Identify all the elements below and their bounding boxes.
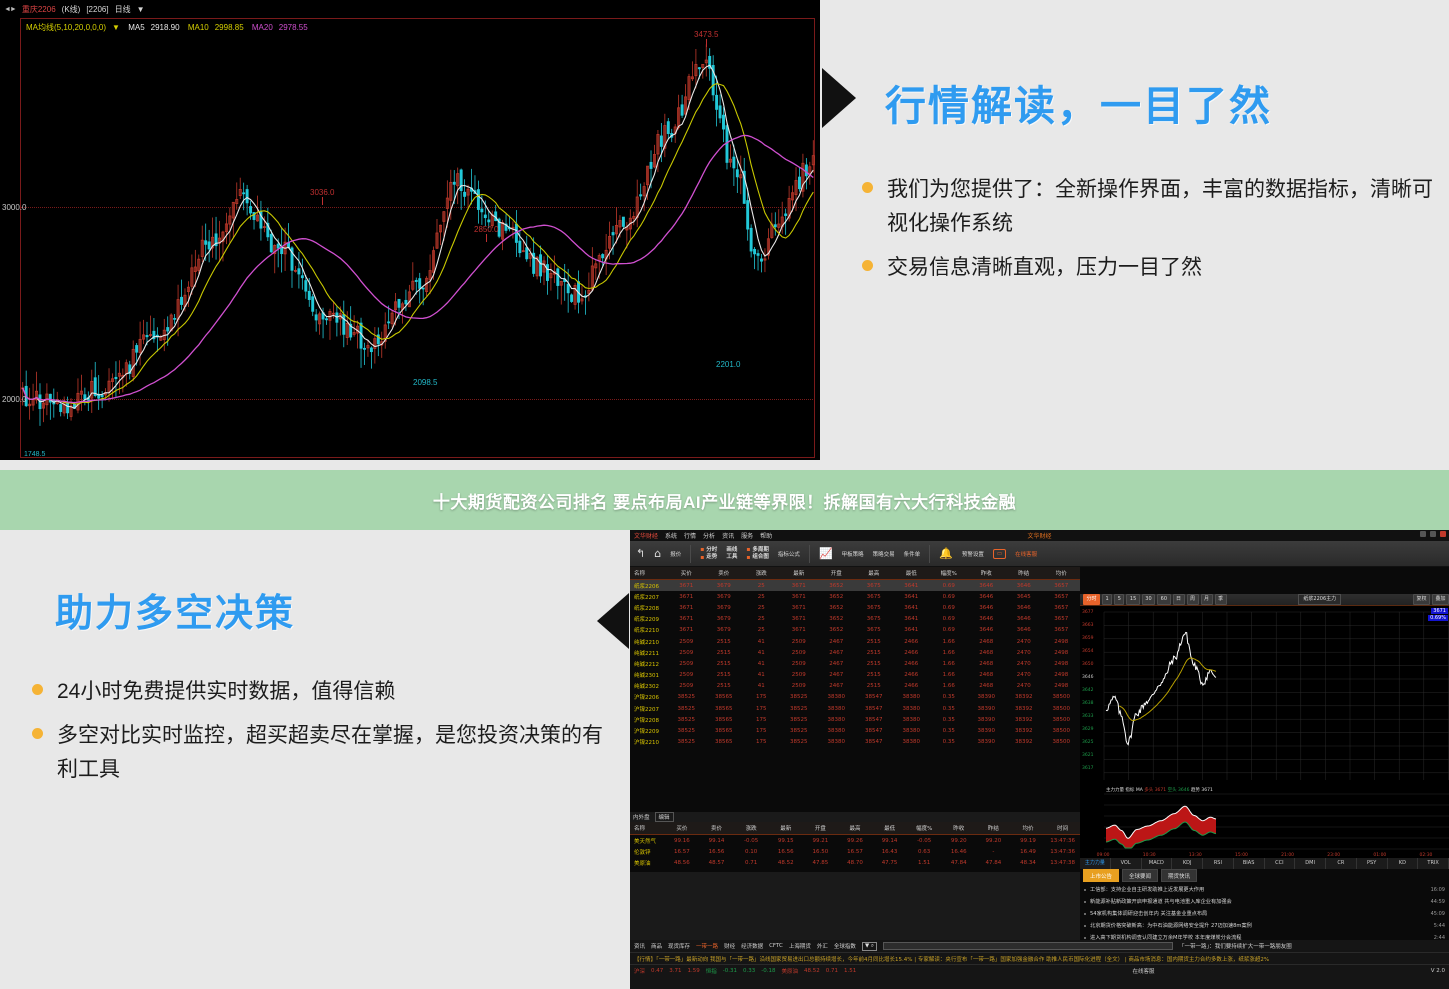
tf-button-30[interactable]: 30 [1142,594,1155,605]
table-cell: 3675 [855,625,893,636]
ma5-value: 2918.90 [151,23,180,32]
news-tab-futures[interactable]: 期货快讯 [1161,869,1197,882]
instrument-name: 纯碱2211 [630,647,668,658]
indicator-tab[interactable]: CCI [1265,858,1296,869]
maximize-icon[interactable] [1430,531,1436,537]
drawing-tools-button[interactable]: 画线工具 [726,547,737,561]
column-header[interactable]: 名称 [630,567,668,580]
menu-item-quotes[interactable]: 行情 [684,531,696,540]
bullet-dot-icon [862,260,873,271]
indicator-value-trend: 趋势 3671 [1191,788,1213,793]
quote2-table-container[interactable]: 名称买价卖价涨跌最新开盘最高最低幅度%昨收昨结均价时间 美天然气99.1699.… [630,822,1080,872]
table-cell: 2470 [1005,658,1043,669]
table-cell: 3679 [705,602,743,613]
table-cell: 3657 [1043,602,1081,613]
toolbar-divider [929,545,930,563]
kline-period-label[interactable]: 日线 [115,4,131,15]
table-cell: 2509 [780,658,818,669]
news-item[interactable]: 北京期货价格突破新高：为中石油能源网络安全提升 27迈加速8m案例5:44 [1084,920,1445,932]
table-cell: 3645 [1005,591,1043,602]
table-row[interactable]: 纸浆2209367136792536713652367536410.693646… [630,614,1080,625]
table-cell: 3671 [668,580,706,592]
table-cell: 99.20 [941,835,976,847]
indicator-tab[interactable]: BIAS [1234,858,1265,869]
column-header[interactable]: 最新 [780,567,818,580]
table-cell: 175 [743,703,781,714]
edit-button[interactable]: 编辑 [655,812,674,822]
strategy-trade-button[interactable]: 策略交易 [873,550,895,558]
indicator-tab[interactable]: KD [1388,858,1419,869]
table-cell: 2515 [705,647,743,658]
index-chg-2: 0.33 [743,968,755,974]
table-cell: 16.50 [803,846,838,857]
kline-period-dropdown-icon[interactable]: ▼ [137,5,145,14]
column-header[interactable]: 卖价 [705,567,743,580]
ma20-label: MA20 [252,23,273,32]
table-row[interactable]: 纯碱2210250925154125092467251524661.662468… [630,636,1080,647]
table-cell: 38525 [780,725,818,736]
index-val-3: 48.52 [804,968,820,974]
bullet-item: 我们为您提供了：全新操作界面，丰富的数据指标，清晰可视化操作系统 [862,173,1442,241]
table-row[interactable]: 沪镍22063852538565175385253838038547383800… [630,692,1080,703]
status-tab-commodity[interactable]: 商品 [651,942,662,950]
column-header[interactable]: 昨收 [968,567,1006,580]
table-cell: 47.85 [803,857,838,868]
kline-annotation-6: 1748.5 [24,451,45,458]
bottom-bullet-list: 24小时免费提供实时数据，值得信赖 多空对比实时监控，超买超卖尽在掌握，是您投资… [32,675,612,797]
kline-nav-arrows-icon[interactable]: ◄► [4,6,16,13]
table-cell: 0.35 [930,737,968,748]
news-time: 45:09 [1431,908,1445,920]
tf-button-day[interactable]: 日 [1173,594,1185,605]
menu-item-news[interactable]: 资讯 [722,531,734,540]
table-cell: 38525 [668,692,706,703]
column-header[interactable]: 时间 [1045,822,1080,835]
table-cell: 38392 [1005,703,1043,714]
quote2-header-row: 名称买价卖价涨跌最新开盘最高最低幅度%昨收昨结均价时间 [630,822,1080,835]
column-header[interactable]: 开盘 [818,567,856,580]
table-row[interactable]: 沪镍22083852538565175385253838038547383800… [630,714,1080,725]
price-tag-pct: 0.69% [1428,615,1448,621]
bullet-marker-icon: ▪▪ [746,546,750,560]
close-icon[interactable] [1440,531,1446,537]
table-cell: 2467 [818,636,856,647]
column-header[interactable]: 涨跌 [743,567,781,580]
news-bullet-icon [1084,913,1086,915]
tf-button-month[interactable]: 月 [1201,594,1213,605]
table-cell: 3641 [893,614,931,625]
status-tab-finance[interactable]: 财经 [724,942,735,950]
column-header[interactable]: 买价 [668,567,706,580]
column-header[interactable]: 最高 [855,567,893,580]
mini-chart-time-axis: 09:0010:3013:3015:0021:0023:0001:0002:30 [1080,853,1449,858]
chat-icon[interactable]: ▭ [993,549,1006,559]
table-cell: 38380 [818,737,856,748]
table-row[interactable]: 纸浆2210367136792536713652367536410.693646… [630,625,1080,636]
banner-title: 十大期货配资公司排名 要点布局AI产业链等界限！拆解国有六大行科技金融 [433,488,1016,513]
table-cell: 38565 [705,692,743,703]
table-cell: 2515 [855,658,893,669]
formula-button[interactable]: 指标公式 [778,550,800,558]
kline-contract-label: [2206] [86,5,108,14]
index-val-2: -0.31 [723,968,737,974]
tf-button-15[interactable]: 15 [1126,594,1139,605]
table-cell: 16.56 [768,846,803,857]
home-button[interactable]: ⌂ [654,548,661,559]
toolbar-divider [690,545,691,563]
table-cell: 38525 [780,714,818,725]
chart-button[interactable]: 📈 [819,548,833,559]
table-cell: 3646 [1005,580,1043,592]
tf-button-fenshi[interactable]: 分时 [1083,594,1100,605]
column-header[interactable]: 开盘 [803,822,838,835]
indicator-tab[interactable]: PSY [1357,858,1388,869]
table-cell: 3671 [668,614,706,625]
terminal-menubar: 文华财经 系统 行情 分析 资讯 服务 帮助 文华财经 [630,530,1449,541]
table-cell: 3671 [780,602,818,613]
column-header[interactable]: 买价 [665,822,700,835]
status-version: V 2.0 [1431,968,1445,974]
column-header[interactable]: 幅度% [907,822,942,835]
news-item[interactable]: 新能源补贴新政策开启申报通道 共与电池重入库企业有加强会44:59 [1084,896,1445,908]
table-cell: 0.69 [930,580,968,592]
table-cell: 2466 [893,681,931,692]
bullet-marker-icon: ▪▪ [700,546,704,560]
table-cell: 1.51 [907,857,942,868]
column-header[interactable]: 名称 [630,822,665,835]
tab-inner-outer[interactable]: 内外盘 [633,813,650,821]
indicator-tabbar: 主力力量VOLMACDKDJRSIBIASCCIDMICRPSYKDTRIX [1080,858,1449,869]
table-cell: 38380 [893,714,931,725]
table-cell: 16.49 [1011,846,1046,857]
table-cell: 1.66 [930,670,968,681]
table-cell: 3652 [818,625,856,636]
bullet-text: 多空对比实时监控，超买超卖尽在掌握，是您投资决策的有利工具 [57,719,612,787]
time-label: 13:30 [1172,853,1218,858]
status-tab-belt-road[interactable]: 一带一路 [696,942,718,950]
column-header[interactable]: 卖价 [699,822,734,835]
table-cell: 16.57 [665,846,700,857]
table-row[interactable]: 纯碱2301250925154125092467251524661.662468… [630,670,1080,681]
table-cell: 2466 [893,670,931,681]
table-cell: 3671 [780,625,818,636]
status-tab-globalindex[interactable]: 全球指数 [834,942,856,950]
bullet-text: 我们为您提供了：全新操作界面，丰富的数据指标，清晰可视化操作系统 [887,173,1442,241]
chart-icon: 📈 [819,548,833,559]
quote-table-body: 纸浆2206367136792536713652367536410.693646… [630,580,1080,748]
bullet-item: 交易信息清晰直观，压力一目了然 [862,251,1442,285]
column-header[interactable]: 最低 [872,822,907,835]
news-time: 16:09 [1431,884,1445,896]
table-cell: 38392 [1005,737,1043,748]
status-tab-news[interactable]: 资讯 [634,942,645,950]
table-row[interactable]: 沪镍22103852538565175385253838038547383800… [630,737,1080,748]
news-tab-announcements[interactable]: 上市公告 [1083,869,1119,882]
column-header[interactable]: 涨跌 [734,822,769,835]
tf-button-1[interactable]: 1 [1102,594,1112,605]
model-trade-button[interactable]: 🔔 [939,548,953,559]
undo-button[interactable]: ↰ [636,548,645,559]
status-online-service[interactable]: 在线客服 [1133,967,1155,975]
menu-item-help[interactable]: 帮助 [760,531,772,540]
table-cell: 41 [743,681,781,692]
timeshare-button[interactable]: ▪▪ 分时走势 [700,546,717,560]
indicator-tab[interactable]: TRIX [1418,858,1449,869]
promo-banner: 十大期货配资公司排名 要点布局AI产业链等界限！拆解国有六大行科技金融 [0,470,1449,530]
status-tab-shfe[interactable]: 上海期货 [789,942,811,950]
instrument-name: 沪镍2208 [630,714,668,725]
table-cell: 2467 [818,647,856,658]
table-cell: 3646 [1005,625,1043,636]
table-cell: 3679 [705,591,743,602]
mini-axis-label: 3617 [1082,766,1093,771]
table-cell: 38525 [668,714,706,725]
bullet-dot-icon [862,182,873,193]
draw-label-2: 工具 [726,554,737,561]
table-cell: 2467 [818,658,856,669]
news-time: 5:44 [1434,920,1445,932]
news-item[interactable]: 54家机构集体调研迎击创年内 关注基金业重点布局45:09 [1084,908,1445,920]
top-section: ◄► 重庆2206 (K线) [2206] 日线 ▼ MA均线(5,10,20,… [0,0,1449,470]
table-cell: 2515 [705,658,743,669]
indicator-tab[interactable]: RSI [1203,858,1234,869]
table-cell: 38390 [968,703,1006,714]
kline-chart-panel: ◄► 重庆2206 (K线) [2206] 日线 ▼ MA均线(5,10,20,… [0,0,820,460]
quote-table-container[interactable]: 名称买价卖价涨跌最新开盘最高最低幅度%昨收昨结均价 纸浆220636713679… [630,567,1080,812]
table-cell: 0.35 [930,725,968,736]
column-header[interactable]: 昨结 [976,822,1011,835]
terminal-status-bar: 资讯 商品 现货库存 一带一路 财经 经济数据 CFTC 上海期货 外汇 全球指… [630,940,1449,989]
status-tab-econdata[interactable]: 经济数据 [741,942,763,950]
timeshare-label-1: 分时 [706,547,717,554]
pointer-arrow-right-icon [597,593,629,649]
table-cell: 2498 [1043,681,1081,692]
timeshare-label-2: 走势 [706,554,717,561]
column-header[interactable]: 最高 [838,822,873,835]
tf-button-quarter[interactable]: 季 [1215,594,1227,605]
table-cell: 2515 [705,670,743,681]
terminal-brand: 文华财经 [634,531,658,540]
table-row[interactable]: 美天然气99.1699.14-0.0599.1599.2199.2699.14-… [630,835,1080,847]
table-row[interactable]: 沪镍22073852538565175385253838038547383800… [630,703,1080,714]
table-cell: 3671 [668,602,706,613]
column-header[interactable]: 昨收 [941,822,976,835]
table-cell: 38392 [1005,692,1043,703]
news-tab-global[interactable]: 全球要闻 [1122,869,1158,882]
ma-legend-name[interactable]: MA均线(5,10,20,0,0,0) [26,23,106,32]
table-cell: 38500 [1043,692,1081,703]
menu-item-analysis[interactable]: 分析 [703,531,715,540]
news-bullet-icon [1084,925,1086,927]
bullet-text: 24小时免费提供实时数据，值得信赖 [57,675,395,709]
online-service-button[interactable]: 在线客服 [1015,550,1037,558]
index-name-2: 恒指 [706,967,717,975]
status-note: 「一带一路」：我们要持续扩大一带一路朋友圈 [1179,942,1292,950]
table-cell: 16.43 [872,846,907,857]
table-cell: 38547 [855,725,893,736]
bullet-dot-icon [32,684,43,695]
condition-order-button[interactable]: 条件单 [904,550,921,558]
home-icon: ⌂ [654,548,661,559]
table-cell: 3675 [855,580,893,592]
adjust-button[interactable]: 复权 [1413,594,1430,605]
kline-annotation-4: 2098.5 [413,378,437,387]
news-item[interactable]: 工信部：支持企业自主研发助推上近发展更大作用16:09 [1084,884,1445,896]
table-cell: 48.57 [699,857,734,868]
news-title: 54家机构集体调研迎击创年内 关注基金业重点布局 [1090,908,1427,920]
tf-button-60[interactable]: 60 [1157,594,1170,605]
contract-selector[interactable]: 纸浆2206主力 [1298,594,1341,605]
table-cell: 2509 [668,658,706,669]
tf-button-5[interactable]: 5 [1114,594,1124,605]
menu-item-system[interactable]: 系统 [665,531,677,540]
table-cell: 3646 [968,614,1006,625]
indicator-tab[interactable]: CR [1326,858,1357,869]
table-cell: -0.05 [734,835,769,847]
overlay-button[interactable]: 叠加 [1432,594,1449,605]
instrument-name: 纸浆2210 [630,625,668,636]
kline-annotation-5: 2201.0 [716,360,740,369]
table-cell: 3675 [855,591,893,602]
mini-axis-label: 3633 [1082,714,1093,719]
bullet-dot-icon [32,728,43,739]
mini-axis-label: 3663 [1082,623,1093,628]
table-row[interactable]: 纯碱2212250925154125092467251524661.662468… [630,658,1080,669]
instrument-name: 沪镍2207 [630,703,668,714]
index-val-1: 0.47 [651,968,663,974]
news-bullet-icon [1084,889,1086,891]
table-row[interactable]: 沪镍22093852538565175385253838038547383800… [630,725,1080,736]
column-header[interactable]: 最新 [768,822,803,835]
table-cell: 48.70 [838,857,873,868]
column-header[interactable]: 均价 [1043,567,1081,580]
multi-label-1: 多周期 [752,547,769,554]
status-search-chip[interactable]: ▼ ⌕ [862,942,877,951]
window-controls[interactable] [1420,531,1446,537]
instrument-name: 沪镍2210 [630,737,668,748]
table-cell: 0.35 [930,692,968,703]
table-cell: 38380 [818,725,856,736]
bottom-headline: 助力多空决策 [55,582,295,637]
table-cell: 2468 [968,636,1006,647]
table-cell: 0.69 [930,614,968,625]
table-row[interactable]: 纯碱2302250925154125092467251524661.662468… [630,681,1080,692]
indicator-tab[interactable]: DMI [1295,858,1326,869]
table-cell: 38500 [1043,714,1081,725]
table-cell: 175 [743,725,781,736]
table-cell: 3641 [893,625,931,636]
table-cell: -0.05 [907,835,942,847]
table-cell: 2509 [668,670,706,681]
table-row[interactable]: 纸浆2208367136792536713652367536410.693646… [630,602,1080,613]
instrument-name: 纸浆2207 [630,591,668,602]
kline-annotation-3: 2850.0 [474,225,498,242]
quote-table: 名称买价卖价涨跌最新开盘最高最低幅度%昨收昨结均价 纸浆220636713679… [630,567,1080,748]
index-chg-3: 0.71 [826,968,838,974]
instrument-name: 美天然气 [630,835,665,847]
mini-price-chart: 3671 0.69% 36773663365936543650364636423… [1080,606,1449,786]
column-header[interactable]: 昨结 [1005,567,1043,580]
table-cell: 3657 [1043,580,1081,592]
table-cell: 38500 [1043,725,1081,736]
table-cell: 2466 [893,658,931,669]
kline-symbol-label: 重庆2206 [22,4,56,15]
time-label: 01:00 [1357,853,1403,858]
quote-table-header-row: 名称买价卖价涨跌最新开盘最高最低幅度%昨收昨结均价 [630,567,1080,580]
promo-page: ◄► 重庆2206 (K线) [2206] 日线 ▼ MA均线(5,10,20,… [0,0,1449,989]
status-tab-inventory[interactable]: 现货库存 [668,942,690,950]
table-row[interactable]: 纸浆2206367136792536713652367536410.693646… [630,580,1080,592]
table-cell: 47.75 [872,857,907,868]
indicator-tab[interactable]: VOL [1111,858,1142,869]
indicator-tab[interactable]: KDJ [1172,858,1203,869]
indicator-name: 主力力量 指标 MA [1106,788,1143,793]
table-cell: 2498 [1043,670,1081,681]
index-pct-3: 1.51 [844,968,856,974]
table-cell: 3641 [893,602,931,613]
status-tab-cftc[interactable]: CFTC [769,943,783,949]
status-tab-fx[interactable]: 外汇 [817,942,828,950]
table-cell: 2467 [818,670,856,681]
table-cell: 38500 [1043,703,1081,714]
table-cell: 3652 [818,614,856,625]
tf-button-week[interactable]: 周 [1187,594,1199,605]
menu-item-service[interactable]: 服务 [741,531,753,540]
table-cell: 99.14 [872,835,907,847]
column-header[interactable]: 幅度% [930,567,968,580]
status-search-input[interactable] [883,942,1173,950]
table-cell: 48.52 [768,857,803,868]
ma10-label: MA10 [188,23,209,32]
news-time: 44:59 [1431,896,1445,908]
ma5-label: MA5 [128,23,144,32]
table-cell: 3646 [1005,614,1043,625]
indicator-tab[interactable]: 主力力量 [1080,858,1111,869]
quote-button[interactable]: 报价 [670,550,681,558]
ma10-value: 2998.85 [215,23,244,32]
table-cell: 38547 [855,692,893,703]
table-row[interactable]: 伦敦锌16.5716.560.1016.5616.5016.5716.430.6… [630,846,1080,857]
bullet-item: 多空对比实时监控，超买超卖尽在掌握，是您投资决策的有利工具 [32,719,612,787]
time-label: 10:30 [1126,853,1172,858]
terminal-window-title: 文华财经 [1027,531,1051,540]
table-cell: 3646 [968,580,1006,592]
kline-axis-label-low: 2000.0 [2,395,26,404]
table-cell: 48.56 [665,857,700,868]
table-cell: 2467 [818,681,856,692]
ma-legend-caret-icon[interactable]: ▼ [112,23,120,32]
instrument-name: 沪镍2209 [630,725,668,736]
deck-strategy-button[interactable]: 甲板策略 [842,550,864,558]
column-header[interactable]: 最低 [893,567,931,580]
indicator-tab[interactable]: MACD [1142,858,1173,869]
news-title: 北京期货价格突破新高：为中石油能源网络安全提升 27迈加速8m案例 [1090,920,1430,932]
table-row[interactable]: 美原油48.5648.570.7148.5247.8548.7047.751.5… [630,857,1080,868]
table-cell: 2509 [780,647,818,658]
table-row[interactable]: 纯碱2211250925154125092467251524661.662468… [630,647,1080,658]
table-row[interactable]: 纸浆2207367136792536713652367536410.693646… [630,591,1080,602]
table-cell: 48.34 [1011,857,1046,868]
column-header[interactable]: 均价 [1011,822,1046,835]
multi-period-button[interactable]: ▪▪ 多周期组合图 [746,546,769,560]
news-title: 新能源补贴新政策开启申报通道 共与电池重入库企业有加强会 [1090,896,1427,908]
instrument-name: 纯碱2212 [630,658,668,669]
alert-settings-button[interactable]: 预警设置 [962,550,984,558]
undo-icon: ↰ [636,548,645,559]
table-cell: 3671 [780,614,818,625]
minimize-icon[interactable] [1420,531,1426,537]
table-cell: 3646 [968,591,1006,602]
